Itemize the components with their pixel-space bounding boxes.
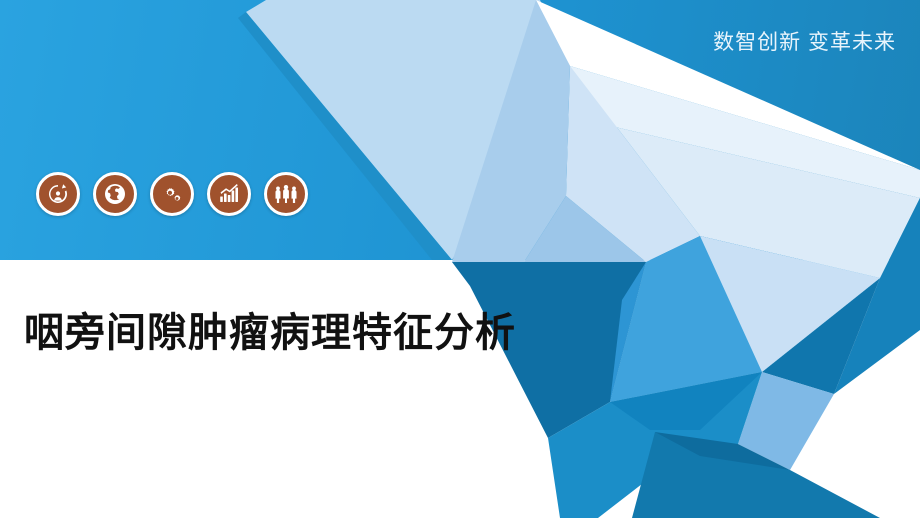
gears-icon[interactable] xyxy=(150,172,194,216)
polygon-artwork xyxy=(0,0,920,518)
globe-icon[interactable] xyxy=(93,172,137,216)
tagline: 数智创新 变革未来 xyxy=(713,26,896,56)
bar-chart-icon[interactable] xyxy=(207,172,251,216)
page-title: 咽旁间隙肿瘤病理特征分析 xyxy=(24,300,516,358)
title-slide: 数智创新 变革未来 xyxy=(0,0,920,518)
growth-person-icon[interactable] xyxy=(36,172,80,216)
icon-row xyxy=(36,172,308,216)
people-team-icon[interactable] xyxy=(264,172,308,216)
